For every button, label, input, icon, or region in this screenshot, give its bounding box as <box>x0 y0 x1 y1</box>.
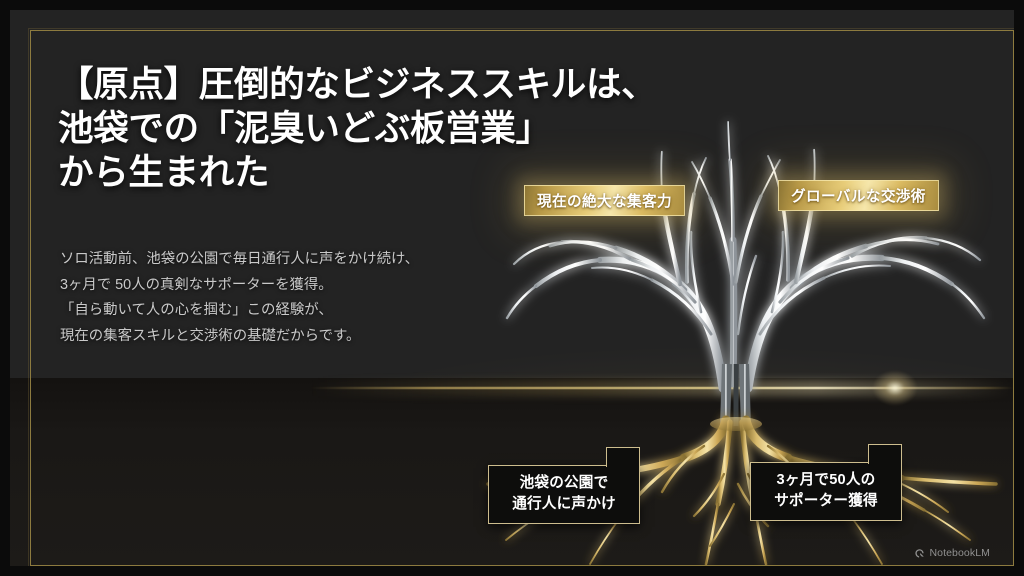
badge-park-line-2: 通行人に声かけ <box>495 494 633 515</box>
page-title: 【原点】圧倒的なビジネススキルは、 池袋での「泥臭いどぶ板営業」 から生まれた <box>58 62 698 194</box>
notebooklm-watermark: NotebookLM <box>914 547 990 559</box>
badge-notch-pointer <box>606 447 640 467</box>
badge-supporters-line-1: 3ヶ月で50人の <box>757 470 895 491</box>
watermark-label: NotebookLM <box>929 547 990 559</box>
slide-canvas: 【原点】圧倒的なビジネススキルは、 池袋での「泥臭いどぶ板営業」 から生まれた … <box>0 0 1024 576</box>
body-line-2: 3ヶ月で 50人の真剣なサポーターを獲得。 <box>60 273 560 299</box>
headline-line-1: 【原点】圧倒的なビジネススキルは、 <box>58 62 698 106</box>
slide-stage: 【原点】圧倒的なビジネススキルは、 池袋での「泥臭いどぶ板営業」 から生まれた … <box>10 10 1014 566</box>
badge-current-attraction-power: 現在の絶大な集客力 <box>524 185 685 216</box>
body-line-3: 「自ら動いて人の心を掴む」この経験が、 <box>60 298 560 324</box>
body-line-4: 現在の集客スキルと交渉術の基礎だからです。 <box>60 324 560 350</box>
badge-supporters-acquired: 3ヶ月で50人の サポーター獲得 <box>750 462 902 521</box>
body-copy: ソロ活動前、池袋の公園で毎日通行人に声をかけ続け、 3ヶ月で 50人の真剣なサポ… <box>60 247 560 349</box>
badge-supporters-line-2: サポーター獲得 <box>757 491 895 512</box>
badge-ikebukuro-park: 池袋の公園で 通行人に声かけ <box>488 465 640 524</box>
badge-notch-pointer <box>868 444 902 464</box>
notebooklm-logo-icon <box>914 548 925 559</box>
body-line-1: ソロ活動前、池袋の公園で毎日通行人に声をかけ続け、 <box>60 247 560 273</box>
headline-line-2: 池袋での「泥臭いどぶ板営業」 <box>58 106 698 150</box>
badge-global-negotiation-skill: グローバルな交渉術 <box>778 180 939 211</box>
badge-park-line-1: 池袋の公園で <box>495 473 633 494</box>
